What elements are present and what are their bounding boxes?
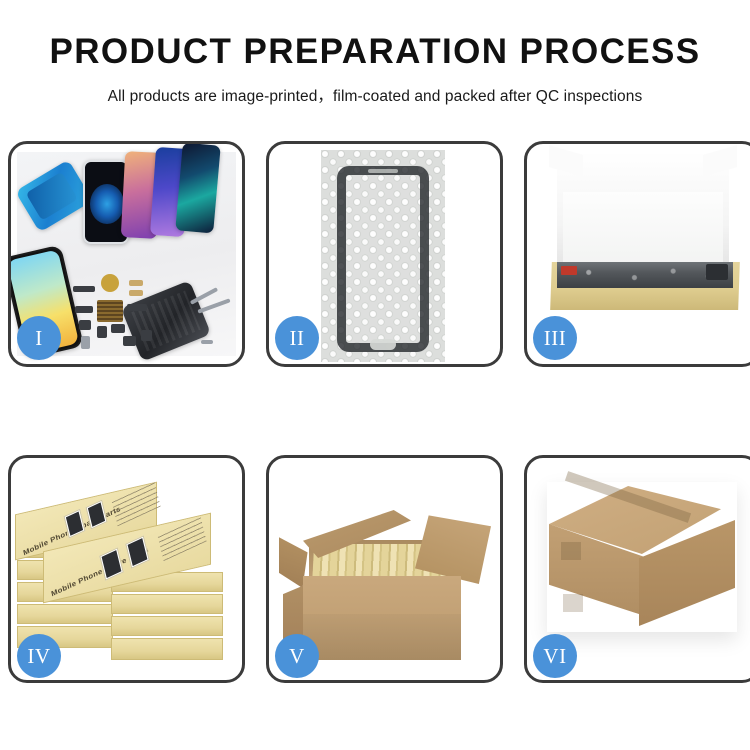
box-edge-r3 — [111, 616, 223, 636]
step-panel-3[interactable]: III — [524, 141, 750, 367]
page-title: PRODUCT PREPARATION PROCESS — [0, 34, 750, 71]
step-panel-4[interactable]: Mobile Phone Spare Parts Mobile Phone Sp… — [8, 455, 245, 683]
carton-tab-upper — [561, 542, 581, 560]
step-5-image: V — [269, 458, 500, 680]
step-panel-1[interactable]: I — [8, 141, 245, 367]
step-1-image: I — [11, 144, 242, 364]
part-connector-2 — [129, 290, 143, 296]
screen-flex-connector — [706, 264, 728, 280]
part-connector-1 — [129, 280, 143, 286]
page-header: PRODUCT PREPARATION PROCESS All products… — [0, 0, 750, 106]
part-flex-cable-right — [127, 304, 147, 311]
carton-front-shading — [303, 614, 461, 660]
foam-insert — [563, 192, 723, 270]
process-row-2: Mobile Phone Spare Parts Mobile Phone Sp… — [0, 455, 750, 683]
box-edge-l4 — [17, 604, 113, 624]
step-panel-6[interactable]: VI — [524, 455, 750, 683]
part-bracket-1 — [81, 336, 90, 349]
wrapped-screen-outline — [337, 166, 429, 352]
step-badge-1: I — [17, 316, 61, 360]
part-contact-grid — [97, 300, 123, 322]
part-small-module-1 — [79, 320, 91, 330]
step-3-image: III — [527, 144, 750, 364]
step-badge-3: III — [533, 316, 577, 360]
step-2-image: II — [269, 144, 500, 364]
part-flex-cable-left — [75, 306, 93, 313]
process-row-1: I II III — [0, 141, 750, 367]
step-panel-5[interactable]: V — [266, 455, 503, 683]
bubble-wrap-photo — [321, 150, 445, 362]
part-speaker — [123, 336, 136, 346]
step-badge-2: II — [275, 316, 319, 360]
step-panel-2[interactable]: II — [266, 141, 503, 367]
carton-tab-lower — [563, 594, 583, 612]
part-gold-coil — [101, 274, 119, 292]
step-6-image: VI — [527, 458, 750, 680]
part-flex-strip-1 — [73, 286, 95, 292]
box-edge-r4 — [111, 638, 223, 660]
box-edge-r2 — [111, 594, 223, 614]
gradient-phone-teal — [175, 144, 221, 233]
page-subtitle: All products are image-printed，film-coat… — [0, 84, 750, 106]
step-badge-6: VI — [533, 634, 577, 678]
step-4-image: Mobile Phone Spare Parts Mobile Phone Sp… — [11, 458, 242, 680]
part-small-module-3 — [111, 324, 125, 333]
part-camera-module — [141, 330, 152, 341]
process-step-grid: I II III — [0, 141, 750, 683]
step-badge-4: IV — [17, 634, 61, 678]
red-flex-marker — [561, 266, 577, 275]
part-screw-set — [201, 340, 213, 344]
step-badge-5: V — [275, 634, 319, 678]
part-small-module-2 — [97, 326, 107, 338]
